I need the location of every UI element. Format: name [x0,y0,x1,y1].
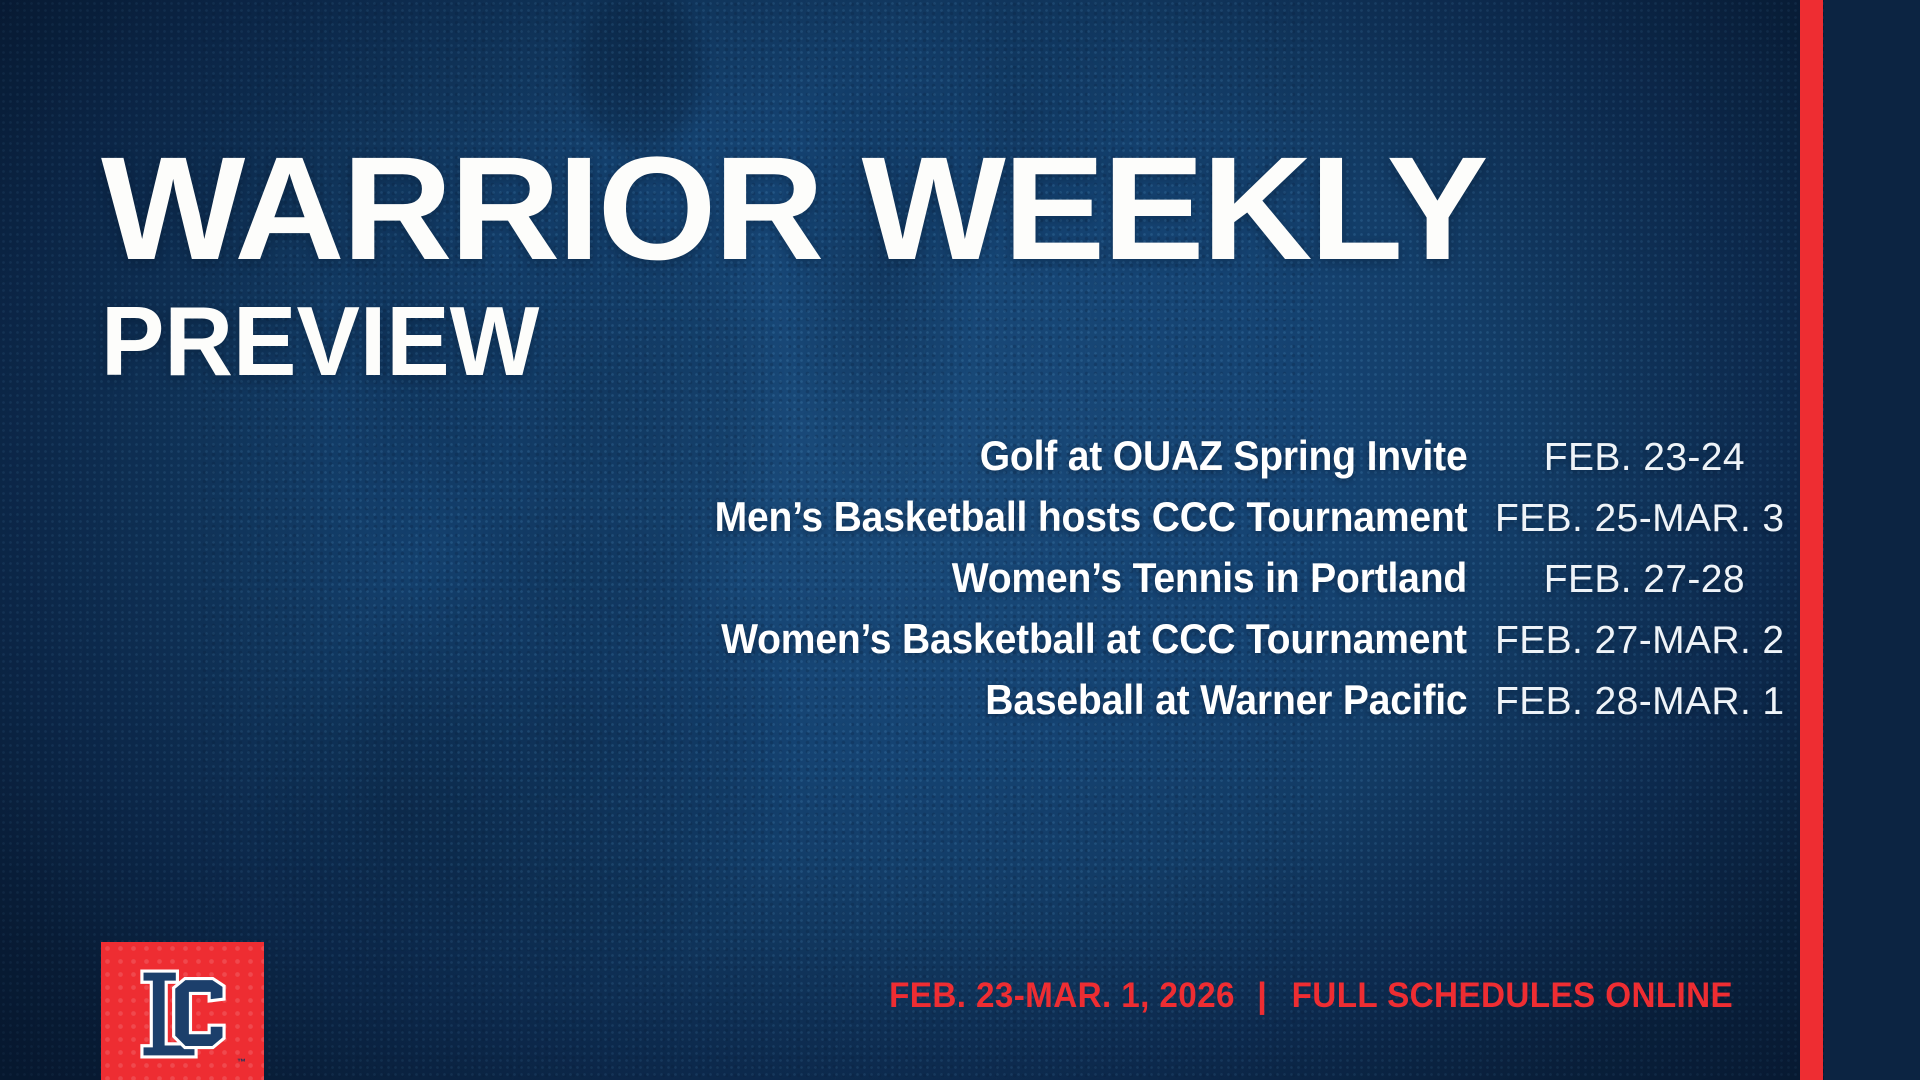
event-name: Baseball at Warner Pacific [985,676,1467,724]
footer-banner: FEB. 23-MAR. 1, 2026 | FULL SCHEDULES ON… [880,976,1745,1016]
event-row: Women’s Tennis in PortlandFEB. 27-28 [330,554,1745,611]
event-date: FEB. 28-MAR. 1 [1495,680,1745,724]
event-date: FEB. 27-28 [1495,558,1745,602]
footer-separator: | [1257,976,1267,1016]
event-name: Women’s Basketball at CCC Tournament [721,615,1467,663]
lc-monogram-icon [127,958,239,1070]
event-row: Golf at OUAZ Spring InviteFEB. 23-24 [330,432,1745,489]
red-vertical-rule [1800,0,1823,1080]
event-date: FEB. 27-MAR. 2 [1495,619,1745,663]
event-row: Women’s Basketball at CCC TournamentFEB.… [330,615,1745,672]
footer-date-range: FEB. 23-MAR. 1, 2026 [889,976,1235,1016]
right-panel [1824,0,1920,1080]
trademark-symbol: ™ [237,1057,246,1067]
footer-cta: FULL SCHEDULES ONLINE [1292,976,1733,1016]
event-name: Golf at OUAZ Spring Invite [979,432,1467,480]
page-subtitle: PREVIEW [101,292,539,390]
event-name: Men’s Basketball hosts CCC Tournament [714,493,1467,541]
page-title: WARRIOR WEEKLY [101,142,1486,277]
event-date: FEB. 23-24 [1495,436,1745,480]
lc-logo-badge: ™ [101,942,264,1080]
event-name: Women’s Tennis in Portland [952,554,1467,602]
event-row: Men’s Basketball hosts CCC TournamentFEB… [330,493,1745,550]
event-row: Baseball at Warner PacificFEB. 28-MAR. 1 [330,676,1745,733]
event-date: FEB. 25-MAR. 3 [1495,497,1745,541]
graphic-canvas: WARRIOR WEEKLY PREVIEW Golf at OUAZ Spri… [0,0,1920,1080]
event-schedule-list: Golf at OUAZ Spring InviteFEB. 23-24Men’… [330,432,1745,737]
